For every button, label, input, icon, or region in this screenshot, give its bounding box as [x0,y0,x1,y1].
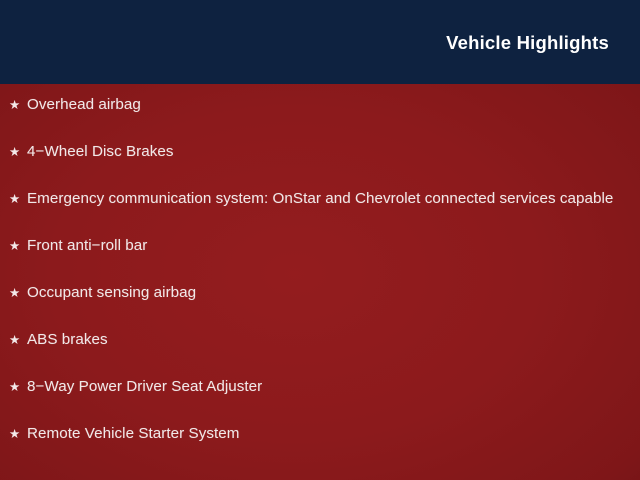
list-item: ★ 4−Wheel Disc Brakes [8,141,622,164]
feature-label: 4−Wheel Disc Brakes [27,141,622,164]
feature-label: ABS brakes [27,329,622,352]
list-item: ★ ABS brakes [8,329,622,352]
star-bullet-icon: ★ [8,188,27,211]
star-bullet-icon: ★ [8,282,27,305]
list-item: ★ Occupant sensing airbag [8,282,622,305]
list-item: ★ Overhead airbag [8,94,622,117]
list-item: ★ Remote Vehicle Starter System [8,423,622,446]
star-bullet-icon: ★ [8,141,27,164]
feature-label: 8−Way Power Driver Seat Adjuster [27,376,622,399]
feature-label: Occupant sensing airbag [27,282,622,305]
list-item: ★ Front anti−roll bar [8,235,622,258]
vehicle-highlights-list: ★ Overhead airbag ★ 4−Wheel Disc Brakes … [0,84,640,480]
star-bullet-icon: ★ [8,235,27,258]
star-bullet-icon: ★ [8,376,27,399]
star-bullet-icon: ★ [8,94,27,117]
feature-label: Front anti−roll bar [27,235,622,258]
vehicle-highlights-slide: Vehicle Highlights ★ Overhead airbag ★ 4… [0,0,640,480]
star-bullet-icon: ★ [8,329,27,352]
feature-label: Overhead airbag [27,94,622,117]
feature-label: Emergency communication system: OnStar a… [27,188,622,211]
slide-header: Vehicle Highlights [0,0,640,84]
list-item: ★ Emergency communication system: OnStar… [8,188,622,211]
star-bullet-icon: ★ [8,423,27,446]
list-item: ★ 8−Way Power Driver Seat Adjuster [8,376,622,399]
page-title: Vehicle Highlights [446,34,609,53]
feature-label: Remote Vehicle Starter System [27,423,622,446]
